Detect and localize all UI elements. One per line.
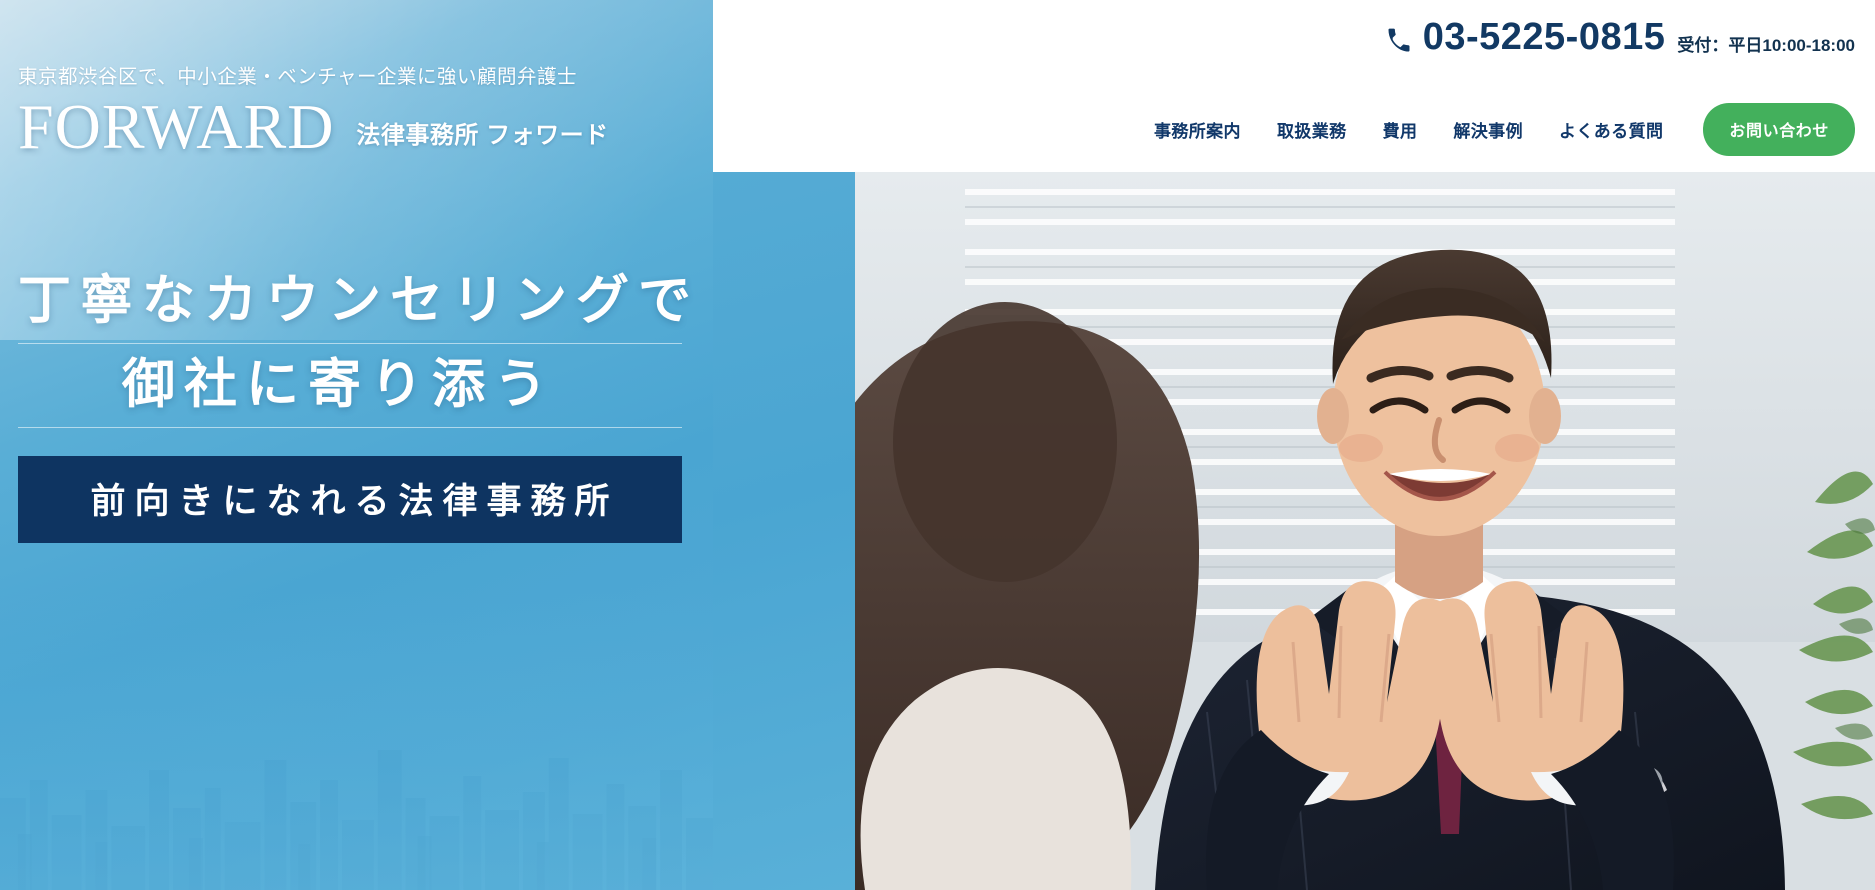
logo-row: FORWARD 法律事務所 フォワード bbox=[18, 95, 718, 159]
nav-item-case-studies[interactable]: 解決事例 bbox=[1453, 117, 1523, 142]
hero-divider-bottom bbox=[18, 427, 682, 428]
phone-icon bbox=[1385, 27, 1413, 55]
panel-photo-gap bbox=[713, 172, 855, 890]
business-hours: 受付：平日10:00-18:00 bbox=[1677, 31, 1855, 56]
nav-item-office-info[interactable]: 事務所案内 bbox=[1154, 117, 1241, 142]
hero-headline-line2: 御社に寄り添う bbox=[0, 344, 700, 427]
nav-item-services[interactable]: 取扱業務 bbox=[1277, 117, 1347, 142]
phone-number: 03-5225-0815 bbox=[1423, 18, 1666, 56]
phone-link[interactable]: 03-5225-0815 bbox=[1385, 18, 1666, 56]
contact-button[interactable]: お問い合わせ bbox=[1703, 103, 1855, 156]
hero-photo bbox=[855, 172, 1875, 890]
hero-photo-image bbox=[855, 172, 1875, 890]
brand-tagline: 東京都渋谷区で、中小企業・ベンチャー企業に強い顧問弁護士 bbox=[18, 60, 718, 89]
page-root: 東京都渋谷区で、中小企業・ベンチャー企業に強い顧問弁護士 FORWARD 法律事… bbox=[0, 0, 1875, 890]
brand-name-jp: 法律事務所 フォワード bbox=[356, 115, 608, 159]
hero-copy: 丁寧なカウンセリングで 御社に寄り添う 前向きになれる法律事務所 bbox=[0, 260, 700, 543]
site-logo-block[interactable]: 東京都渋谷区で、中小企業・ベンチャー企業に強い顧問弁護士 FORWARD 法律事… bbox=[18, 60, 718, 159]
nav-item-fees[interactable]: 費用 bbox=[1383, 117, 1418, 142]
hero-headline-line1: 丁寧なカウンセリングで bbox=[0, 260, 700, 343]
nav-item-faq[interactable]: よくある質問 bbox=[1559, 117, 1663, 142]
main-navigation: 事務所案内 取扱業務 費用 解決事例 よくある質問 お問い合わせ bbox=[1154, 103, 1855, 156]
header-contact-block: 03-5225-0815 受付：平日10:00-18:00 bbox=[1385, 18, 1855, 56]
site-header: 03-5225-0815 受付：平日10:00-18:00 事務所案内 取扱業務… bbox=[713, 0, 1875, 172]
hero-badge: 前向きになれる法律事務所 bbox=[18, 456, 682, 543]
brand-wordmark: FORWARD bbox=[18, 95, 334, 159]
